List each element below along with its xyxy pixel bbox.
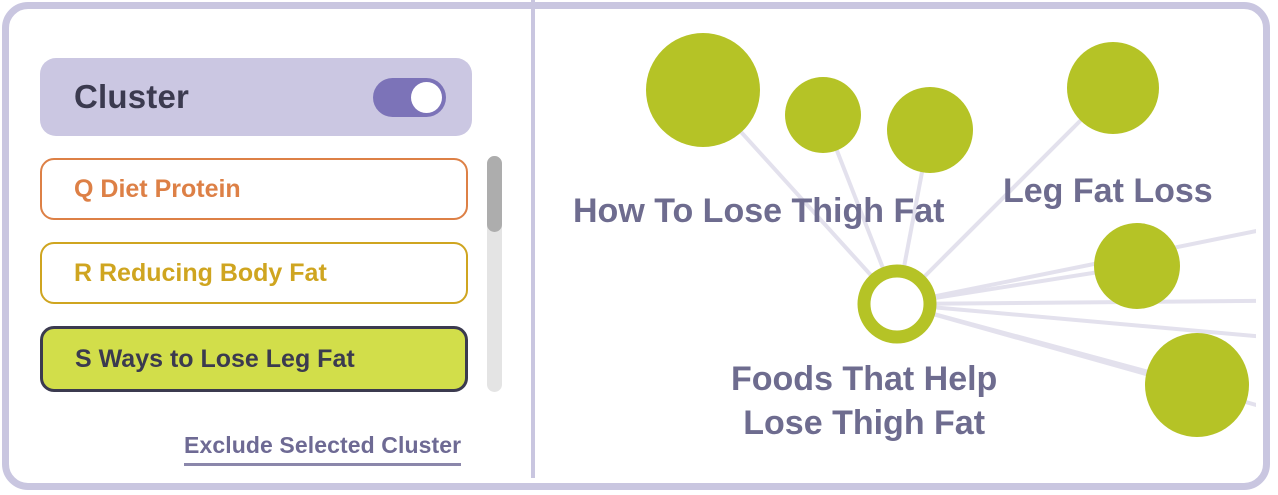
cluster-item-label: S Ways to Lose Leg Fat [75,345,355,374]
cluster-list[interactable]: Q Diet Protein R Reducing Body Fat S Way… [40,158,472,394]
graph-edge [897,215,1256,304]
graph-node[interactable] [887,87,973,173]
cluster-item-label: R Reducing Body Fat [74,259,327,288]
graph-node-label: Foods That Help Lose Thigh Fat [731,358,997,445]
cluster-toggle-switch[interactable] [373,78,446,117]
graph-node-label: Leg Fat Loss [1003,170,1213,214]
cluster-list-scrollbar[interactable] [487,156,502,392]
graph-edge [897,300,1256,304]
cluster-graph-widget: Cluster Q Diet Protein R Reducing Body F… [0,0,1278,495]
graph-node-selected[interactable] [864,271,930,337]
graph-node[interactable] [785,77,861,153]
exclude-selected-cluster-link[interactable]: Exclude Selected Cluster [184,432,461,466]
cluster-list-item-diet-protein[interactable]: Q Diet Protein [40,158,468,220]
graph-node[interactable] [646,33,760,147]
graph-node-label: How To Lose Thigh Fat [573,190,944,234]
graph-node[interactable] [1145,333,1249,437]
cluster-item-label: Q Diet Protein [74,175,241,204]
cluster-graph-panel[interactable]: How To Lose Thigh FatLeg Fat LossFoods T… [535,0,1256,478]
cluster-list-item-ways-to-lose-leg-fat[interactable]: S Ways to Lose Leg Fat [40,326,468,392]
cluster-list-scrollbar-thumb[interactable] [487,156,502,232]
panel-divider [531,0,535,478]
graph-node[interactable] [1094,223,1180,309]
cluster-toggle-knob [411,82,442,113]
cluster-header: Cluster [40,58,472,136]
cluster-sidebar-panel: Cluster Q Diet Protein R Reducing Body F… [0,0,531,478]
cluster-list-item-reducing-body-fat[interactable]: R Reducing Body Fat [40,242,468,304]
graph-node[interactable] [1067,42,1159,134]
cluster-header-title: Cluster [74,78,189,116]
